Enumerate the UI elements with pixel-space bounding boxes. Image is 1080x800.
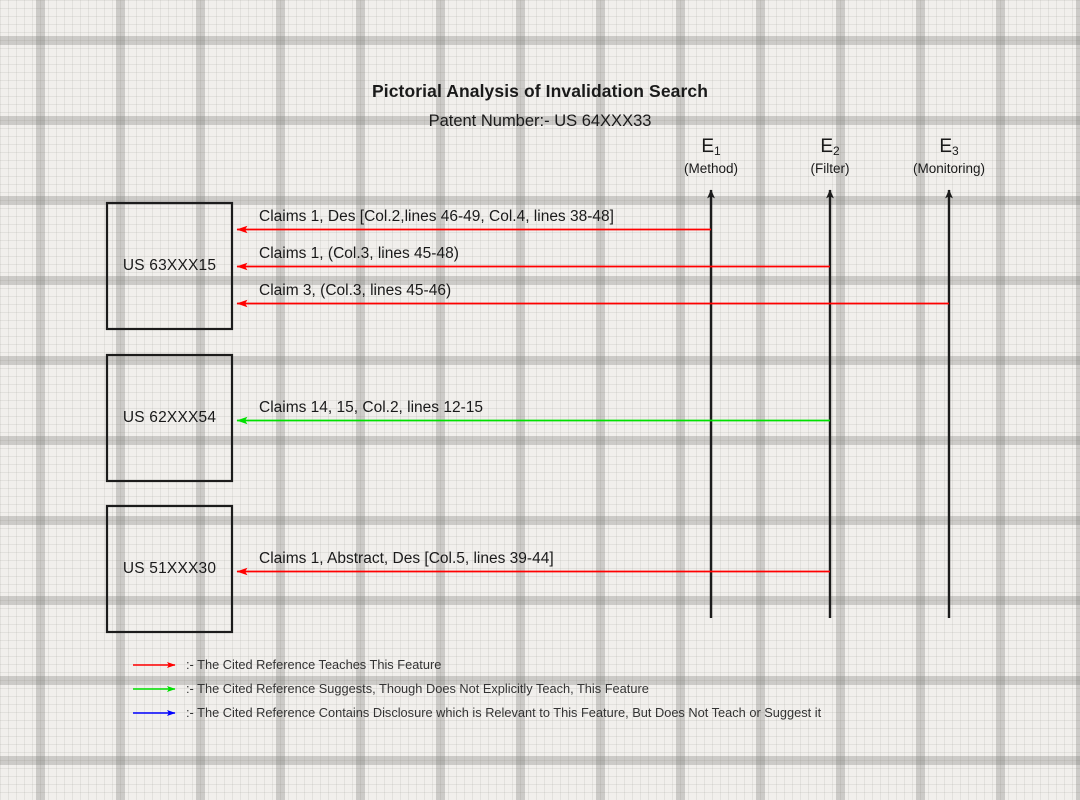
legend-arrow-red-icon [132,659,180,671]
reference-id-1: US 63XXX15 [123,257,216,275]
legend-item-suggests: :- The Cited Reference Suggests, Though … [132,677,821,701]
reference-id-2: US 62XXX54 [123,409,216,427]
arrow-label-4: Claims 14, 15, Col.2, lines 12-15 [259,400,483,416]
legend-text-teaches: :- The Cited Reference Teaches This Feat… [186,659,441,672]
arrow-label-3: Claim 3, (Col.3, lines 45-46) [259,283,451,299]
legend-arrow-blue-icon [132,707,180,719]
legend-arrow-green-icon [132,683,180,695]
legend-item-teaches: :- The Cited Reference Teaches This Feat… [132,653,821,677]
arrow-label-2: Claims 1, (Col.3, lines 45-48) [259,246,459,262]
arrow-label-1: Claims 1, Des [Col.2,lines 46-49, Col.4,… [259,209,614,225]
legend-text-discloses: :- The Cited Reference Contains Disclosu… [186,707,821,720]
column-header-e3: E3 (Monitoring) [869,137,1029,176]
page-subtitle: Patent Number:- US 64XXX33 [0,113,1080,130]
arrow-label-5: Claims 1, Abstract, Des [Col.5, lines 39… [259,551,554,567]
column-symbol-e3: E3 [869,137,1029,156]
reference-box-1[interactable]: US 63XXX15 [107,203,232,329]
legend-text-suggests: :- The Cited Reference Suggests, Though … [186,683,649,696]
reference-id-3: US 51XXX30 [123,560,216,578]
legend: :- The Cited Reference Teaches This Feat… [132,653,821,725]
reference-box-2[interactable]: US 62XXX54 [107,355,232,481]
legend-item-discloses: :- The Cited Reference Contains Disclosu… [132,701,821,725]
column-label-e3: (Monitoring) [869,162,1029,176]
diagram-canvas: Pictorial Analysis of Invalidation Searc… [0,0,1080,800]
page-title: Pictorial Analysis of Invalidation Searc… [0,83,1080,101]
reference-box-3[interactable]: US 51XXX30 [107,506,232,632]
